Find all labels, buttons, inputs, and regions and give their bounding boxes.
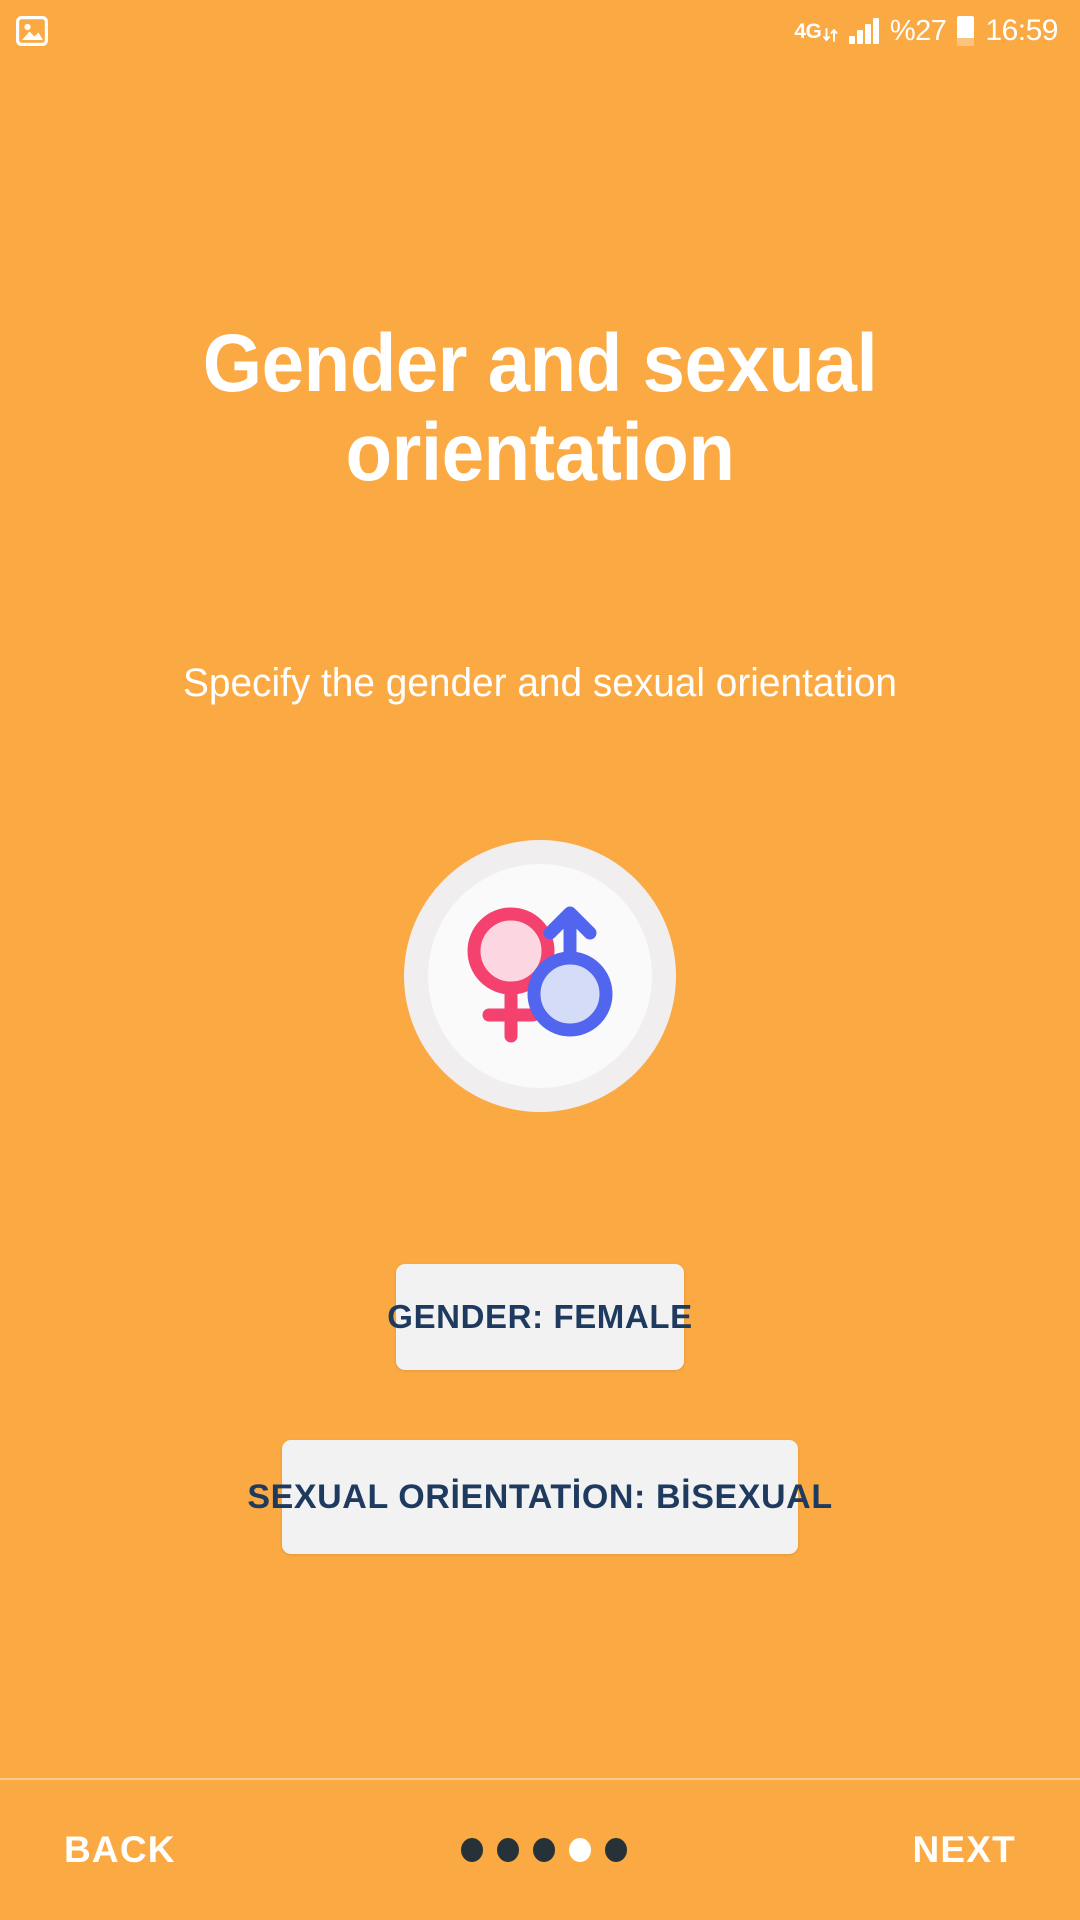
- page-title: Gender and sexual orientation: [94, 320, 987, 497]
- bottom-navigation-bar: BACK NEXT: [0, 1780, 1080, 1920]
- page-subtitle: Specify the gender and sexual orientatio…: [55, 659, 1025, 707]
- status-bar-left: [16, 16, 48, 46]
- network-type-indicator: 4G: [794, 19, 838, 44]
- battery-percent-label: %27: [890, 17, 947, 46]
- page-dot-2[interactable]: [497, 1838, 519, 1862]
- gender-symbols-illustration: [404, 840, 676, 1112]
- sexual-orientation-select-button[interactable]: SEXUAL ORİENTATİON: BİSEXUAL: [282, 1440, 798, 1554]
- next-button[interactable]: NEXT: [909, 1819, 1020, 1881]
- page-dot-5[interactable]: [605, 1838, 627, 1862]
- back-button[interactable]: BACK: [60, 1819, 180, 1881]
- network-type-label: 4G: [794, 21, 821, 42]
- onboarding-screen: 4G %27 16:59 Gender and sexual orientati…: [0, 0, 1080, 1920]
- battery-icon: [957, 16, 974, 46]
- gender-select-button[interactable]: GENDER: FEMALE: [396, 1264, 684, 1370]
- page-dot-4[interactable]: [569, 1838, 591, 1862]
- page-dot-1[interactable]: [461, 1838, 483, 1862]
- status-bar: 4G %27 16:59: [0, 0, 1080, 62]
- status-bar-clock: 16:59: [985, 16, 1058, 46]
- page-dot-3[interactable]: [533, 1838, 555, 1862]
- status-bar-right: 4G %27 16:59: [794, 16, 1058, 46]
- image-gallery-icon: [16, 16, 48, 46]
- data-transfer-icon: [823, 19, 838, 44]
- page-indicator-dots: [461, 1838, 627, 1862]
- signal-bars-icon: [849, 18, 879, 44]
- main-content: Gender and sexual orientation Specify th…: [0, 62, 1080, 1778]
